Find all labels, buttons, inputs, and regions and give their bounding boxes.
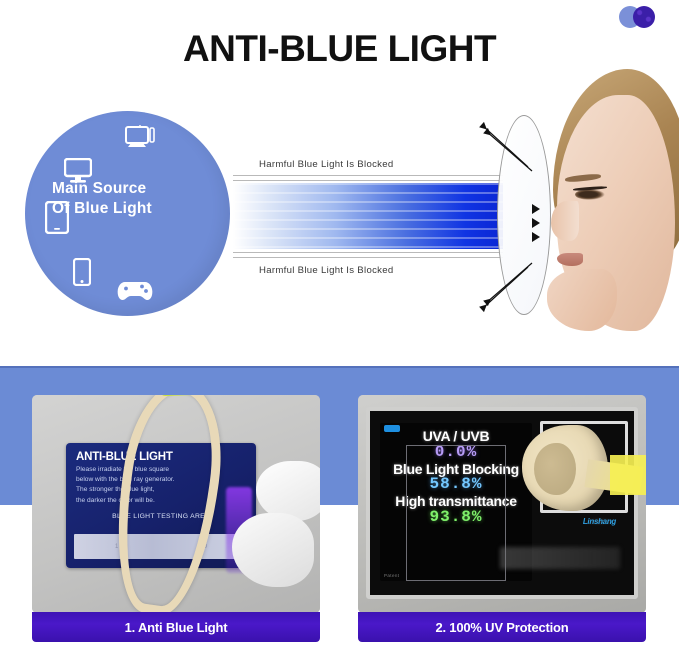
- source-label-line1: Main Source: [52, 180, 146, 197]
- tv-icon: [125, 125, 155, 149]
- caption-uv-protection: 2. 100% UV Protection: [358, 612, 646, 642]
- nose: [551, 201, 579, 241]
- photo-frame: UVA / UVB 0.0% Blue Light Blocking 58.8%…: [358, 395, 646, 613]
- beam-edge-line: [233, 180, 503, 181]
- hero-diagram: Main Source Of Blue Light Harmful Blue L…: [0, 95, 679, 365]
- blurred-device-text: [500, 547, 620, 569]
- lcd-footer-text: Patent: [384, 573, 399, 578]
- logo-circle-dark: [633, 6, 655, 28]
- source-label-line2: Of Blue Light: [52, 200, 152, 217]
- smartphone-icon: [73, 258, 91, 286]
- lcd-indicator: [384, 425, 400, 432]
- lcd-value-box: [406, 445, 506, 581]
- strip-left-value: 1: [115, 544, 118, 550]
- beam-edge-line: [233, 175, 503, 176]
- blue-light-beam: [233, 183, 503, 249]
- woman-profile-photo: [539, 63, 679, 363]
- brand-logo: [619, 4, 661, 30]
- lips: [557, 253, 583, 266]
- caption-anti-blue-light: 1. Anti Blue Light: [32, 612, 320, 642]
- product-infographic: ANTI-BLUE LIGHT Main Source Of Blue Ligh…: [0, 0, 679, 650]
- reading-label-uv: UVA / UVB: [380, 429, 532, 444]
- chin: [547, 269, 617, 331]
- beam-caption-top: Harmful Blue Light Is Blocked: [259, 159, 394, 170]
- eye: [575, 189, 605, 200]
- beam-caption-bottom: Harmful Blue Light Is Blocked: [259, 265, 394, 276]
- uv-tester-device: UVA / UVB 0.0% Blue Light Blocking 58.8%…: [366, 407, 638, 599]
- yellow-tape: [610, 455, 646, 495]
- beam-edge-line: [233, 257, 503, 258]
- anti-blue-light-test-photo: ANTI-BLUE LIGHT Please irradiate the blu…: [32, 395, 320, 613]
- uv-protection-test-photo: UVA / UVB 0.0% Blue Light Blocking 58.8%…: [358, 395, 646, 613]
- linshang-brand-logo: Linshang: [583, 517, 616, 526]
- blue-light-source-label: Main Source Of Blue Light: [52, 179, 182, 219]
- beam-edge-line: [233, 252, 503, 253]
- gamepad-icon: [117, 279, 153, 301]
- photo-frame: ANTI-BLUE LIGHT Please irradiate the blu…: [32, 395, 320, 613]
